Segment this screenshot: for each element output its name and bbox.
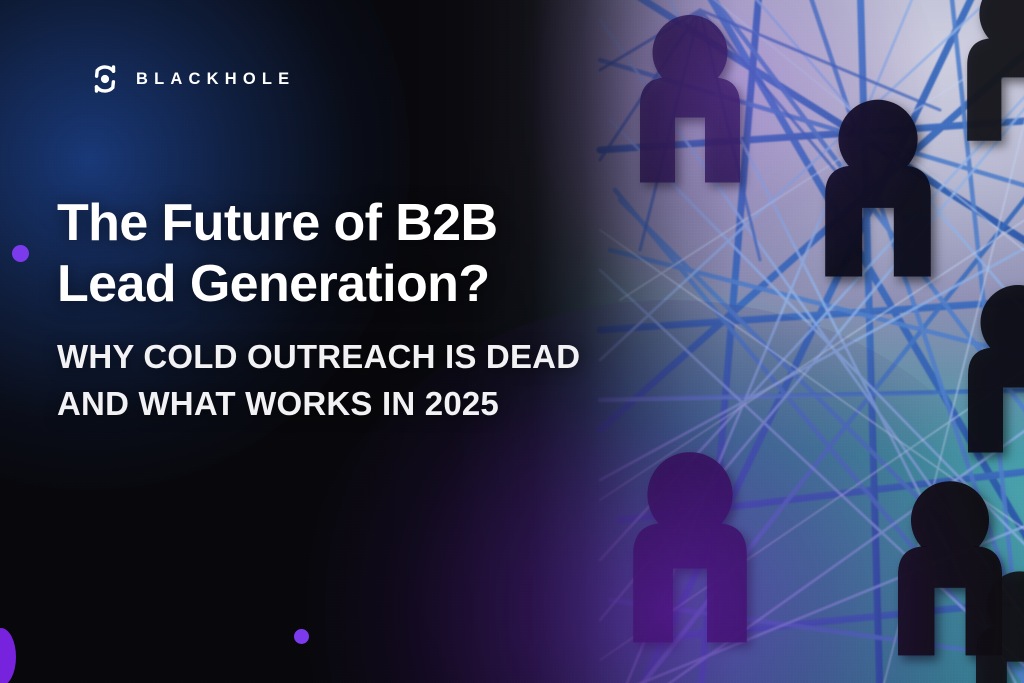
page-title: The Future of B2B Lead Generation? [57,193,497,315]
hero-banner: BLACKHOLE The Future of B2B Lead Generat… [0,0,1024,683]
hero-content: BLACKHOLE The Future of B2B Lead Generat… [0,0,1024,683]
brand-logo[interactable]: BLACKHOLE [88,62,295,96]
brand-name: BLACKHOLE [136,70,295,89]
page-subtitle: WHY COLD OUTREACH IS DEAD AND WHAT WORKS… [57,334,580,428]
blackhole-swirl-icon [88,62,122,96]
